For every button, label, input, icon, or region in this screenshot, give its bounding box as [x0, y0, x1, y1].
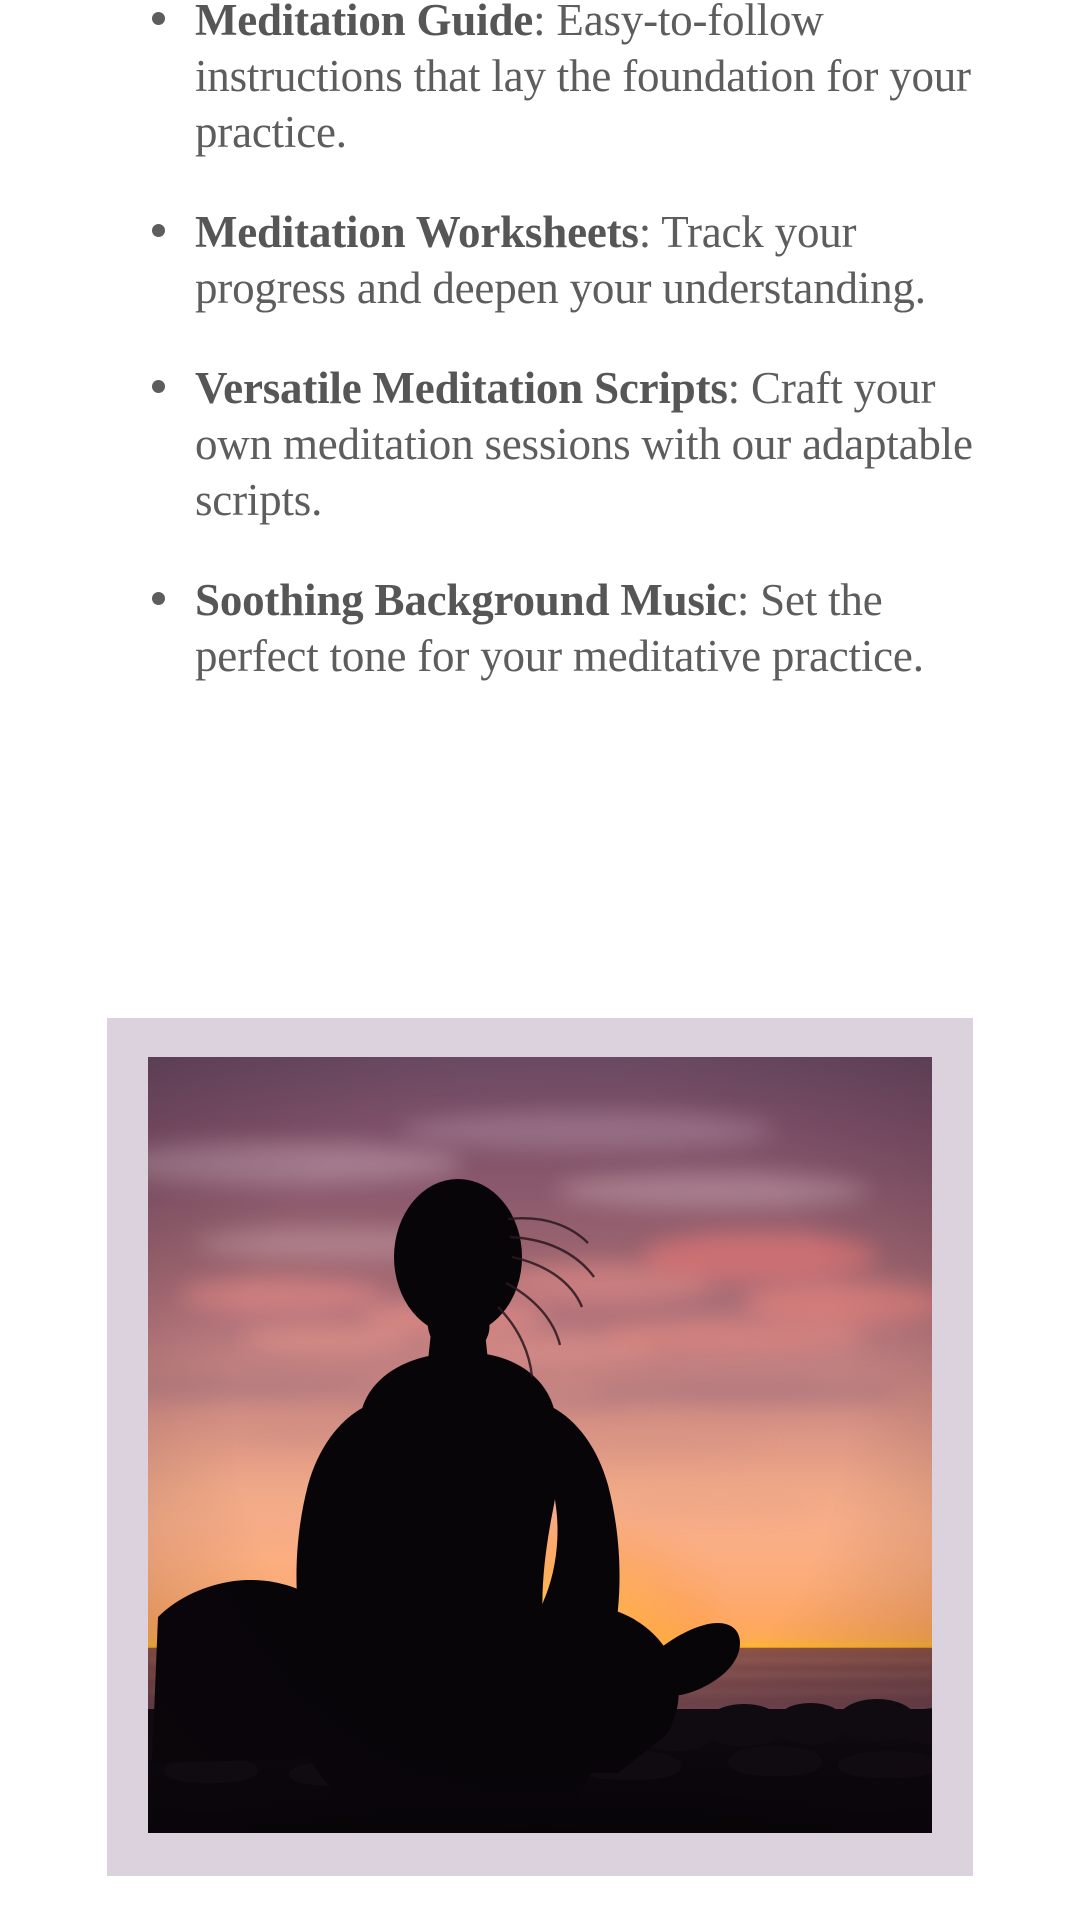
feature-separator: : — [728, 363, 751, 413]
feature-separator: : — [639, 207, 662, 257]
meditation-sunset-photo — [148, 1057, 932, 1833]
feature-term: Versatile Meditation Scripts — [195, 363, 728, 413]
feature-term: Soothing Background Music — [195, 575, 737, 625]
feature-separator: : — [533, 0, 556, 45]
bullet-dot-icon — [152, 12, 165, 25]
list-item: Meditation Worksheets: Track your progre… — [0, 204, 1080, 316]
bullet-dot-icon — [152, 592, 165, 605]
feature-separator: : — [737, 575, 760, 625]
list-item: Meditation Guide: Easy-to-follow instruc… — [0, 0, 1080, 160]
page-root: Meditation Guide: Easy-to-follow instruc… — [0, 0, 1080, 1920]
feature-list: Meditation Guide: Easy-to-follow instruc… — [0, 0, 1080, 728]
bullet-dot-icon — [152, 224, 165, 237]
bullet-dot-icon — [152, 380, 165, 393]
feature-term: Meditation Guide — [195, 0, 533, 45]
meditating-woman-silhouette — [148, 1057, 932, 1833]
feature-term: Meditation Worksheets — [195, 207, 639, 257]
list-item: Versatile Meditation Scripts: Craft your… — [0, 360, 1080, 528]
list-item: Soothing Background Music: Set the perfe… — [0, 572, 1080, 684]
photo-frame — [107, 1018, 973, 1876]
